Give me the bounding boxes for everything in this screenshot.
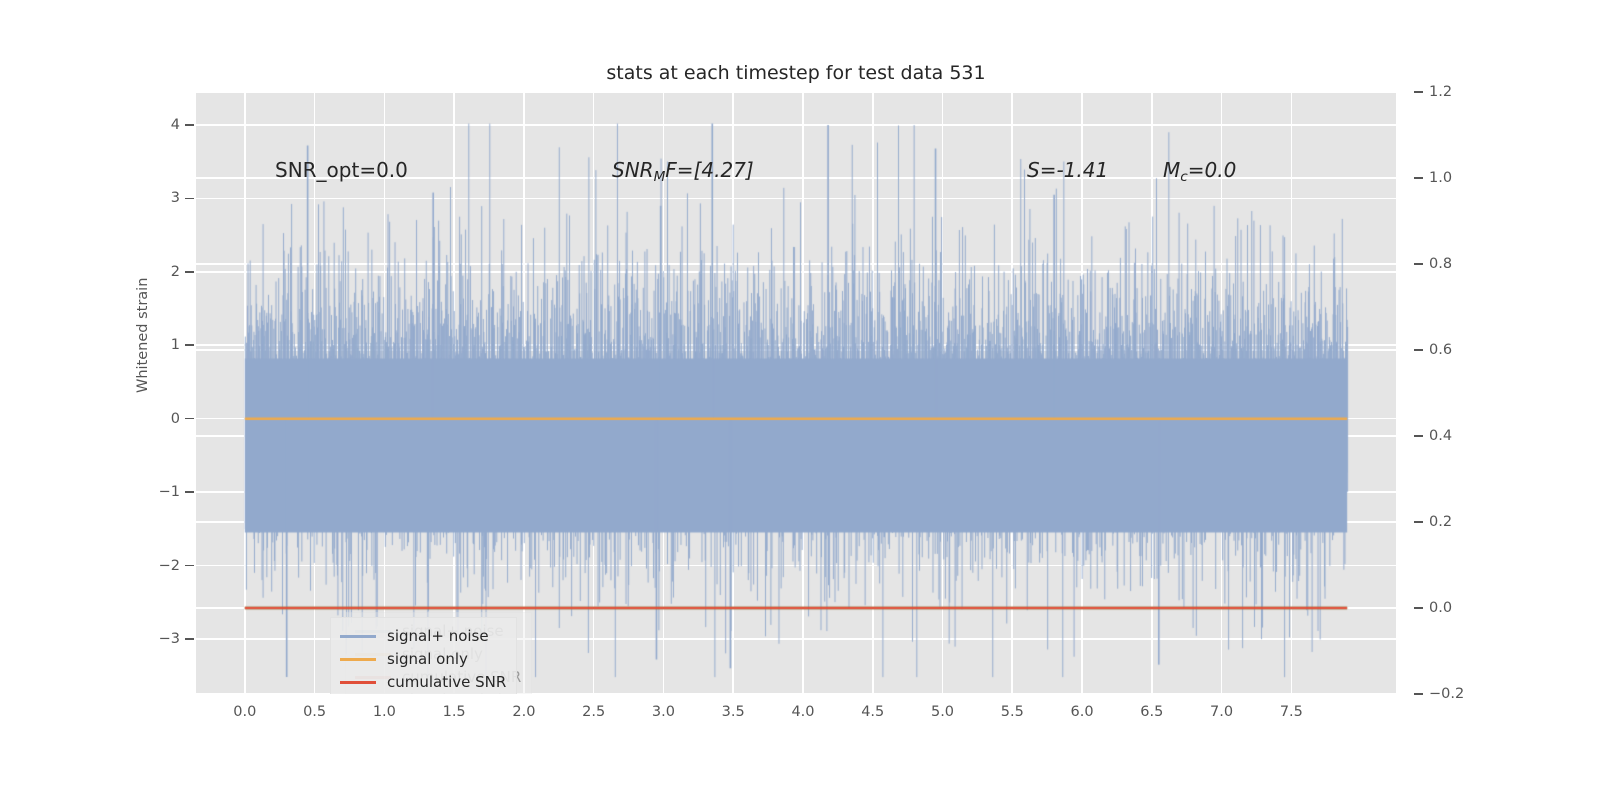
legend[interactable]: signal+ noisesignal onlycumulative SNRsi… bbox=[330, 617, 517, 694]
legend-item-2[interactable]: cumulative SNR bbox=[340, 671, 506, 694]
legend-label: signal only bbox=[387, 652, 468, 667]
tick-mark bbox=[185, 638, 194, 640]
x-tick-label-5: 2.5 bbox=[582, 704, 605, 720]
plot-axes[interactable]: SNR_opt=0.0SNRMF=[4.27]S=-1.41Mc=0.0 sig… bbox=[196, 92, 1396, 694]
tick-mark bbox=[185, 565, 194, 567]
y-left-tick-label-5: −1 bbox=[134, 484, 180, 500]
annotation-s-stat: S=-1.41 bbox=[1027, 158, 1108, 182]
annotation-snr-mf: SNRMF=[4.27] bbox=[612, 158, 754, 185]
tick-mark bbox=[185, 344, 194, 346]
tick-mark bbox=[185, 124, 194, 126]
legend-label: signal+ noise bbox=[387, 629, 489, 644]
legend-swatch-icon bbox=[340, 658, 376, 660]
tick-mark bbox=[1414, 693, 1423, 695]
x-tick-label-12: 6.0 bbox=[1071, 704, 1094, 720]
annotation-snr-opt: SNR_opt=0.0 bbox=[275, 158, 408, 182]
tick-mark bbox=[1414, 349, 1423, 351]
tick-mark bbox=[185, 491, 194, 493]
tick-mark bbox=[1414, 91, 1423, 93]
x-tick-label-13: 6.5 bbox=[1140, 704, 1163, 720]
tick-mark bbox=[1414, 435, 1423, 437]
x-tick-label-9: 4.5 bbox=[861, 704, 884, 720]
legend-swatch-icon bbox=[340, 635, 376, 637]
x-tick-label-0: 0.0 bbox=[233, 704, 256, 720]
y-right-tick-label-6: 0.0 bbox=[1429, 600, 1452, 616]
x-tick-label-10: 5.0 bbox=[931, 704, 954, 720]
tick-mark bbox=[1414, 263, 1423, 265]
x-tick-label-7: 3.5 bbox=[722, 704, 745, 720]
legend-swatch-icon bbox=[340, 681, 376, 683]
y-axis-title: Whitened strain bbox=[135, 278, 151, 393]
page-title: stats at each timestep for test data 531 bbox=[196, 62, 1396, 84]
legend-label: cumulative SNR bbox=[387, 675, 506, 690]
y-left-tick-label-6: −2 bbox=[134, 558, 180, 574]
x-tick-label-11: 5.5 bbox=[1001, 704, 1024, 720]
y-right-tick-label-5: 0.2 bbox=[1429, 514, 1452, 530]
y-right-tick-label-0: 1.2 bbox=[1429, 84, 1452, 100]
y-left-tick-label-7: −3 bbox=[134, 631, 180, 647]
legend-item-1[interactable]: signal only bbox=[340, 648, 506, 671]
y-left-tick-label-4: 0 bbox=[134, 411, 180, 427]
tick-mark bbox=[1414, 607, 1423, 609]
y-right-tick-label-1: 1.0 bbox=[1429, 170, 1452, 186]
tick-mark bbox=[185, 198, 194, 200]
legend-item-0[interactable]: signal+ noise bbox=[340, 625, 506, 648]
x-tick-label-15: 7.5 bbox=[1280, 704, 1303, 720]
figure: stats at each timestep for test data 531… bbox=[0, 0, 1600, 800]
annotation-chirp-mass: Mc=0.0 bbox=[1163, 158, 1236, 185]
x-tick-label-3: 1.5 bbox=[443, 704, 466, 720]
y-left-tick-label-1: 3 bbox=[134, 190, 180, 206]
tick-mark bbox=[185, 418, 194, 420]
x-tick-label-1: 0.5 bbox=[303, 704, 326, 720]
tick-mark bbox=[1414, 521, 1423, 523]
x-tick-label-4: 2.0 bbox=[512, 704, 535, 720]
y-right-tick-label-7: −0.2 bbox=[1429, 686, 1464, 702]
x-tick-label-8: 4.0 bbox=[791, 704, 814, 720]
x-tick-label-2: 1.0 bbox=[373, 704, 396, 720]
x-tick-label-14: 7.0 bbox=[1210, 704, 1233, 720]
y-left-tick-label-0: 4 bbox=[134, 117, 180, 133]
tick-mark bbox=[185, 271, 194, 273]
y-right-tick-label-4: 0.4 bbox=[1429, 428, 1452, 444]
tick-mark bbox=[1414, 177, 1423, 179]
y-right-tick-label-3: 0.6 bbox=[1429, 342, 1452, 358]
x-tick-label-6: 3.0 bbox=[652, 704, 675, 720]
y-right-tick-label-2: 0.8 bbox=[1429, 256, 1452, 272]
